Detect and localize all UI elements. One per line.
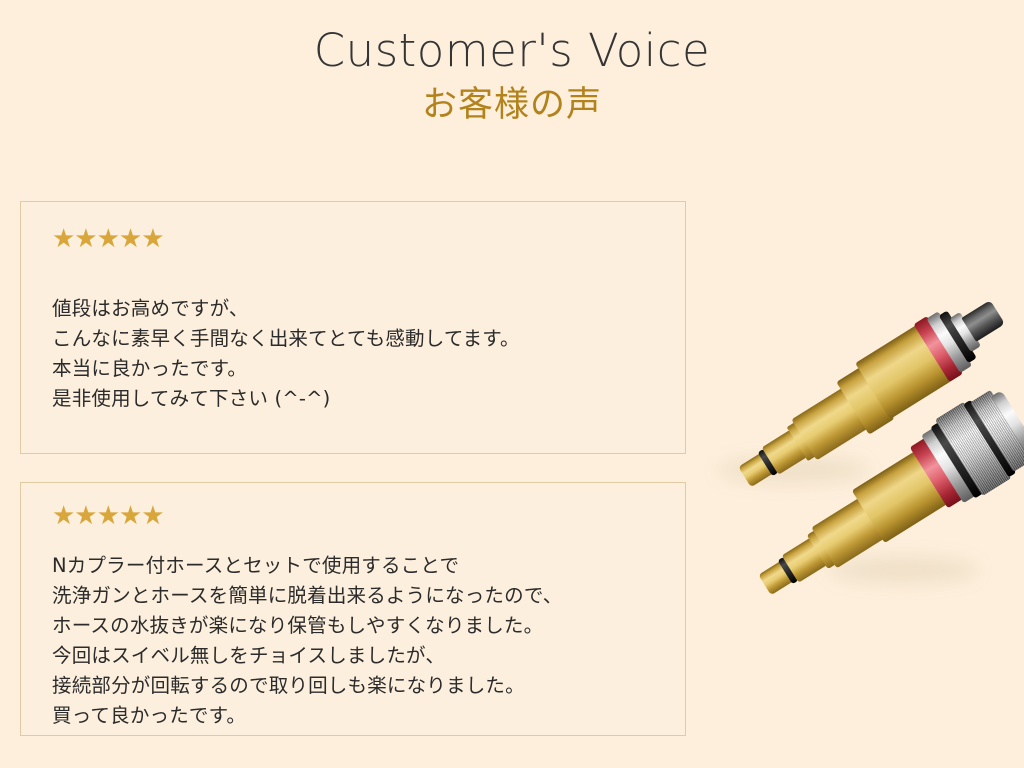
review-card: ★★★★★ 値段はお高めですが、 こんなに素早く手間なく出来てとても感動してます… xyxy=(20,201,686,454)
page-header: Customer's Voice お客様の声 xyxy=(0,0,1024,124)
review-card: ★★★★★ Nカプラー付ホースとセットで使用することで 洗浄ガンとホースを簡単に… xyxy=(20,482,686,736)
star-rating-icon: ★★★★★ xyxy=(52,226,685,252)
review-text: 値段はお高めですが、 こんなに素早く手間なく出来てとても感動してます。 本当に良… xyxy=(52,294,685,414)
page-title: Customer's Voice xyxy=(0,26,1024,76)
review-text: Nカプラー付ホースとセットで使用することで 洗浄ガンとホースを簡単に脱着出来るよ… xyxy=(52,551,685,731)
page-subtitle: お客様の声 xyxy=(0,86,1024,125)
product-photo xyxy=(700,295,1024,595)
star-rating-icon: ★★★★★ xyxy=(52,503,685,529)
